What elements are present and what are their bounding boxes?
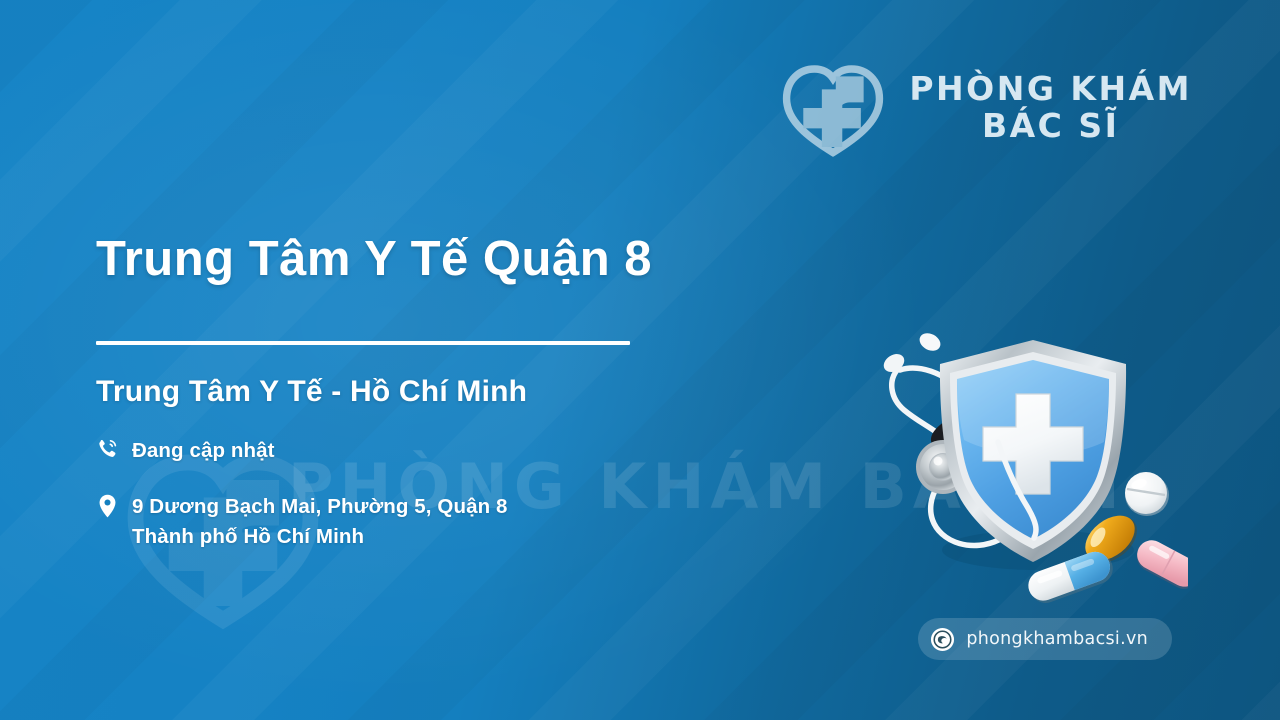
website-url-label: phongkhambacsi.vn (966, 629, 1148, 649)
clinic-info: Trung Tâm Y Tế Quận 8 Trung Tâm Y Tế - H… (96, 232, 756, 552)
phone-row[interactable]: Đang cập nhật (96, 436, 756, 466)
phone-value: Đang cập nhật (132, 436, 275, 466)
address-line-2: Thành phố Hồ Chí Minh (132, 525, 364, 548)
white-round-tablet (1125, 472, 1169, 516)
brand-line-2: BÁC SĨ (909, 108, 1192, 145)
phone-ringing-icon (96, 436, 118, 462)
address-value: 9 Dương Bạch Mai, Phường 5, Quận 8 Thành… (132, 492, 507, 552)
clinic-banner: PHÒNG KHÁM BÁC SĨ PHÒNG KHÁM BÁC SĨ Trun… (0, 0, 1280, 720)
page-title: Trung Tâm Y Tế Quận 8 (96, 232, 756, 287)
pink-capsule (1131, 535, 1188, 594)
brand-wordmark: PHÒNG KHÁM BÁC SĨ (909, 71, 1192, 145)
medical-shield-stethoscope-pills-illustration (858, 322, 1188, 622)
website-badge[interactable]: phongkhambacsi.vn (918, 618, 1172, 660)
globe-swoosh-icon (930, 627, 955, 652)
address-row[interactable]: 9 Dương Bạch Mai, Phường 5, Quận 8 Thành… (96, 492, 756, 552)
map-pin-icon (96, 492, 118, 518)
heart-medical-cross-icon (777, 56, 889, 160)
brand-line-1: PHÒNG KHÁM (909, 71, 1192, 108)
title-divider (96, 341, 630, 345)
address-line-1: 9 Dương Bạch Mai, Phường 5, Quận 8 (132, 495, 507, 518)
clinic-subtitle: Trung Tâm Y Tế - Hồ Chí Minh (96, 375, 756, 409)
brand-logo: PHÒNG KHÁM BÁC SĨ (777, 56, 1192, 160)
